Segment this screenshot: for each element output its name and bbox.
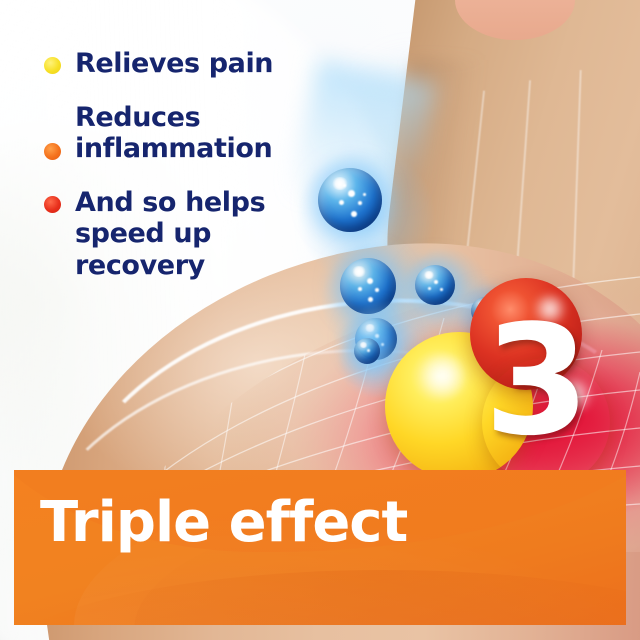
- molecule-sparkle: [339, 200, 344, 205]
- triple-effect-number: 3: [484, 305, 588, 457]
- benefit-item: Reduces inflammation: [44, 102, 314, 165]
- benefit-text: Relieves pain: [75, 48, 273, 80]
- molecule-glint: [423, 271, 435, 279]
- molecule-sphere: [354, 338, 380, 364]
- molecule-sparkle: [358, 287, 362, 291]
- molecule-sphere: [318, 168, 382, 232]
- benefit-item: Relieves pain: [44, 48, 314, 80]
- molecule-sparkle: [351, 211, 357, 217]
- molecule-sparkle: [434, 280, 438, 284]
- molecule-sparkle: [363, 193, 366, 196]
- molecule-sparkle: [428, 287, 431, 290]
- bullet-dot-red-icon: [44, 196, 61, 213]
- molecule-sparkle: [343, 184, 346, 187]
- molecule-sparkle: [367, 349, 370, 352]
- banner-headline: Triple effect: [40, 495, 407, 551]
- molecule-sparkle: [440, 288, 443, 291]
- promo-graphic: 3 Triple effect Relieves pain Reduces in…: [0, 0, 640, 640]
- molecule-sparkle: [367, 278, 373, 284]
- molecule-glint: [359, 342, 368, 348]
- molecule-sparkle: [348, 190, 355, 197]
- benefit-text: And so helps speed up recovery: [75, 187, 314, 282]
- benefit-text: Reduces inflammation: [75, 102, 314, 165]
- molecule-glint: [331, 177, 349, 190]
- molecule-sparkle: [375, 288, 379, 292]
- sphere-specular: [415, 354, 473, 398]
- bullet-dot-orange-icon: [44, 143, 61, 160]
- benefit-item: And so helps speed up recovery: [44, 187, 314, 282]
- molecule-glint: [351, 266, 367, 277]
- molecule-sparkle: [358, 201, 362, 205]
- bullet-dot-yellow-icon: [44, 57, 61, 74]
- benefits-list: Relieves pain Reduces inflammation And s…: [44, 48, 314, 303]
- molecule-sphere: [415, 265, 455, 305]
